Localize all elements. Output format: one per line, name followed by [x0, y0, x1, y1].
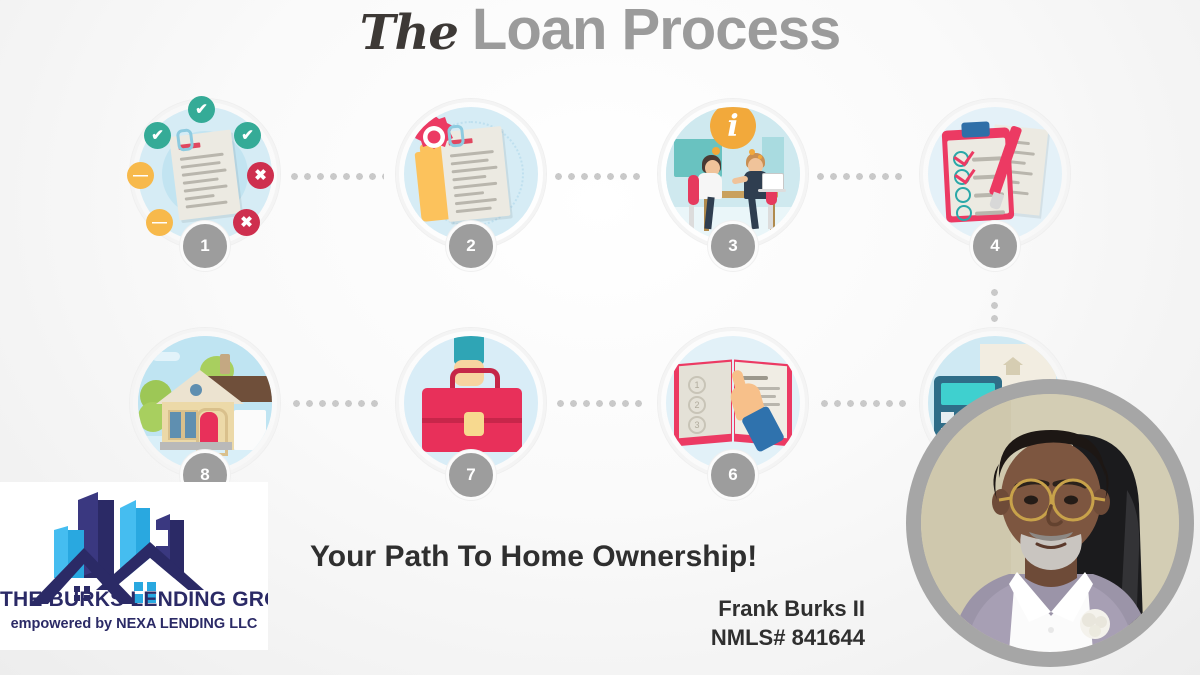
step-4[interactable]: 4 [920, 99, 1070, 249]
connector-5-6 [818, 400, 908, 407]
loan-process-infographic: TheLoan Process ✔ ✔ ✔ [0, 0, 1200, 675]
agent-photo [906, 379, 1194, 667]
connector-1-2 [288, 173, 384, 180]
paper-clip-icon [447, 124, 465, 148]
connector-4-5 [991, 286, 998, 330]
book-list-marker-2: 2 [688, 396, 706, 414]
step-3[interactable]: i 3 [658, 99, 808, 249]
step-number-badge: 6 [708, 450, 758, 500]
minus-mark-icon: — [127, 162, 154, 189]
cloud [152, 352, 180, 361]
info-bubble-label: i [727, 109, 738, 144]
check-mark-icon: ✔ [144, 122, 171, 149]
cross-mark-icon: ✖ [247, 162, 274, 189]
briefcase-icon [422, 388, 522, 452]
shelf [762, 137, 784, 177]
connector-6-7 [554, 400, 646, 407]
chair-client [688, 175, 699, 205]
porch-step [160, 442, 232, 450]
agent-name: Frank Burks II [310, 594, 865, 623]
connector-2-3 [552, 173, 646, 180]
page-title-script: The [360, 5, 458, 61]
chair-officer-base [768, 205, 773, 229]
step-number-badge: 7 [446, 450, 496, 500]
avatar [921, 394, 1179, 652]
agent-nmls: NMLS# 841644 [310, 623, 865, 652]
attic-window [190, 384, 202, 396]
step-1[interactable]: ✔ ✔ ✔ ✖ ✖ — — 1 [130, 99, 280, 249]
minus-mark-icon: — [146, 209, 173, 236]
page-title: TheLoan Process [0, 0, 1200, 63]
laptop-base [758, 189, 786, 192]
logo-tagline: empowered by NEXA LENDING LLC [0, 616, 268, 632]
company-logo[interactable]: THE BURKS LENDING GROUP empowered by NEX… [0, 482, 268, 650]
step-2[interactable]: 2 [396, 99, 546, 249]
connector-7-8 [290, 400, 382, 407]
step-7[interactable]: 7 [396, 328, 546, 478]
step-number-badge: 3 [708, 221, 758, 271]
book-list-marker-1: 1 [688, 376, 706, 394]
book-list-marker-3: 3 [688, 416, 706, 434]
step-6[interactable]: 1 2 3 6 [658, 328, 808, 478]
page-title-main: Loan Process [472, 0, 840, 62]
logo-company-name: THE BURKS LENDING GROUP [0, 588, 268, 612]
window [183, 410, 198, 440]
chair-client-base [689, 205, 694, 229]
window [168, 410, 183, 440]
step-number-badge: 1 [180, 221, 230, 271]
bubble-dot [749, 149, 755, 155]
person-client-body [698, 173, 722, 199]
garage-door [234, 410, 266, 450]
check-mark-icon: ✔ [188, 96, 215, 123]
agent-info: Frank Burks II NMLS# 841644 [310, 594, 865, 652]
connector-3-4 [814, 173, 908, 180]
check-mark-icon: ✔ [234, 122, 261, 149]
bubble-dot [712, 147, 720, 155]
paper-clip-icon [176, 128, 195, 152]
footer-tagline: Your Path To Home Ownership! [310, 540, 757, 574]
headshot-illustration [921, 394, 1179, 652]
step-number-badge: 4 [970, 221, 1020, 271]
bubble-dot [758, 155, 762, 159]
step-number-badge: 2 [446, 221, 496, 271]
step-8[interactable]: 8 [130, 328, 280, 478]
cross-mark-icon: ✖ [233, 209, 260, 236]
